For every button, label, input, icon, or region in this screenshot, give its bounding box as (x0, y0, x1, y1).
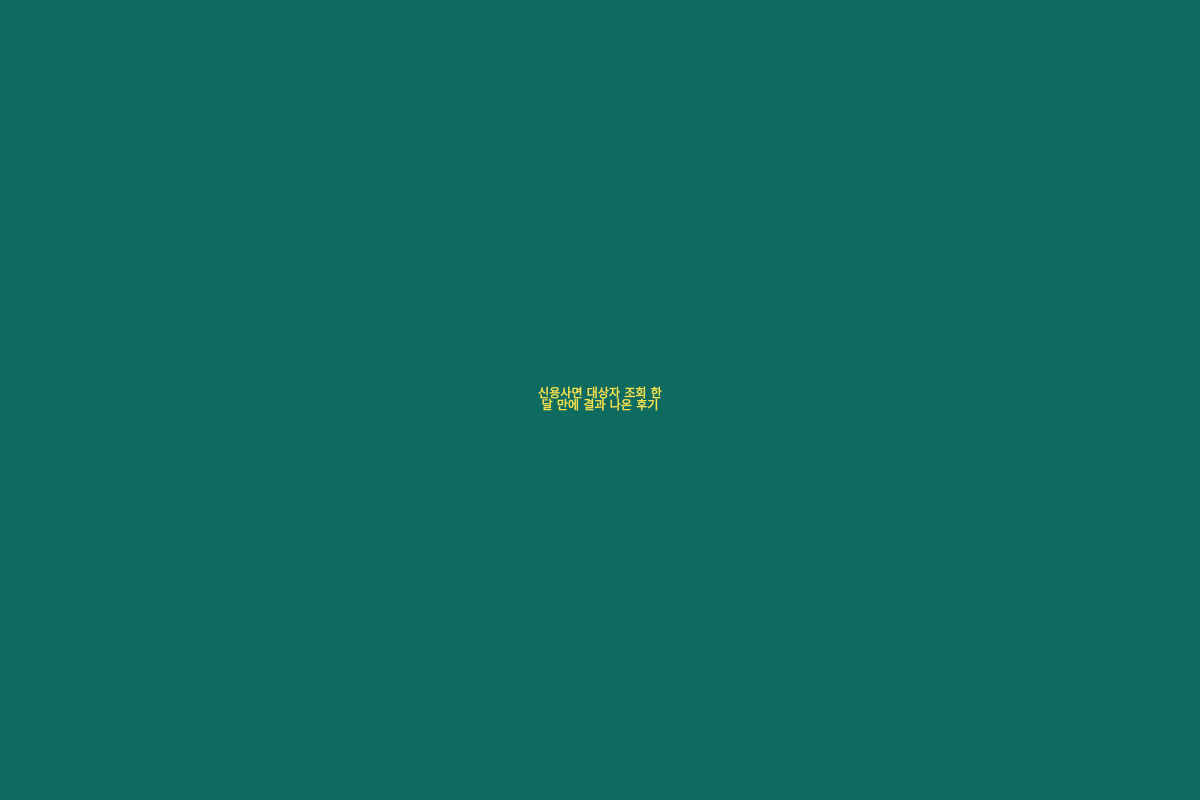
title-line-2: 달 만에 결과 나온 후기 (40, 398, 1160, 414)
title-card: 신용사면 대상자 조회 한 달 만에 결과 나온 후기 (0, 0, 1200, 800)
title-text-block: 신용사면 대상자 조회 한 달 만에 결과 나온 후기 (0, 386, 1200, 414)
